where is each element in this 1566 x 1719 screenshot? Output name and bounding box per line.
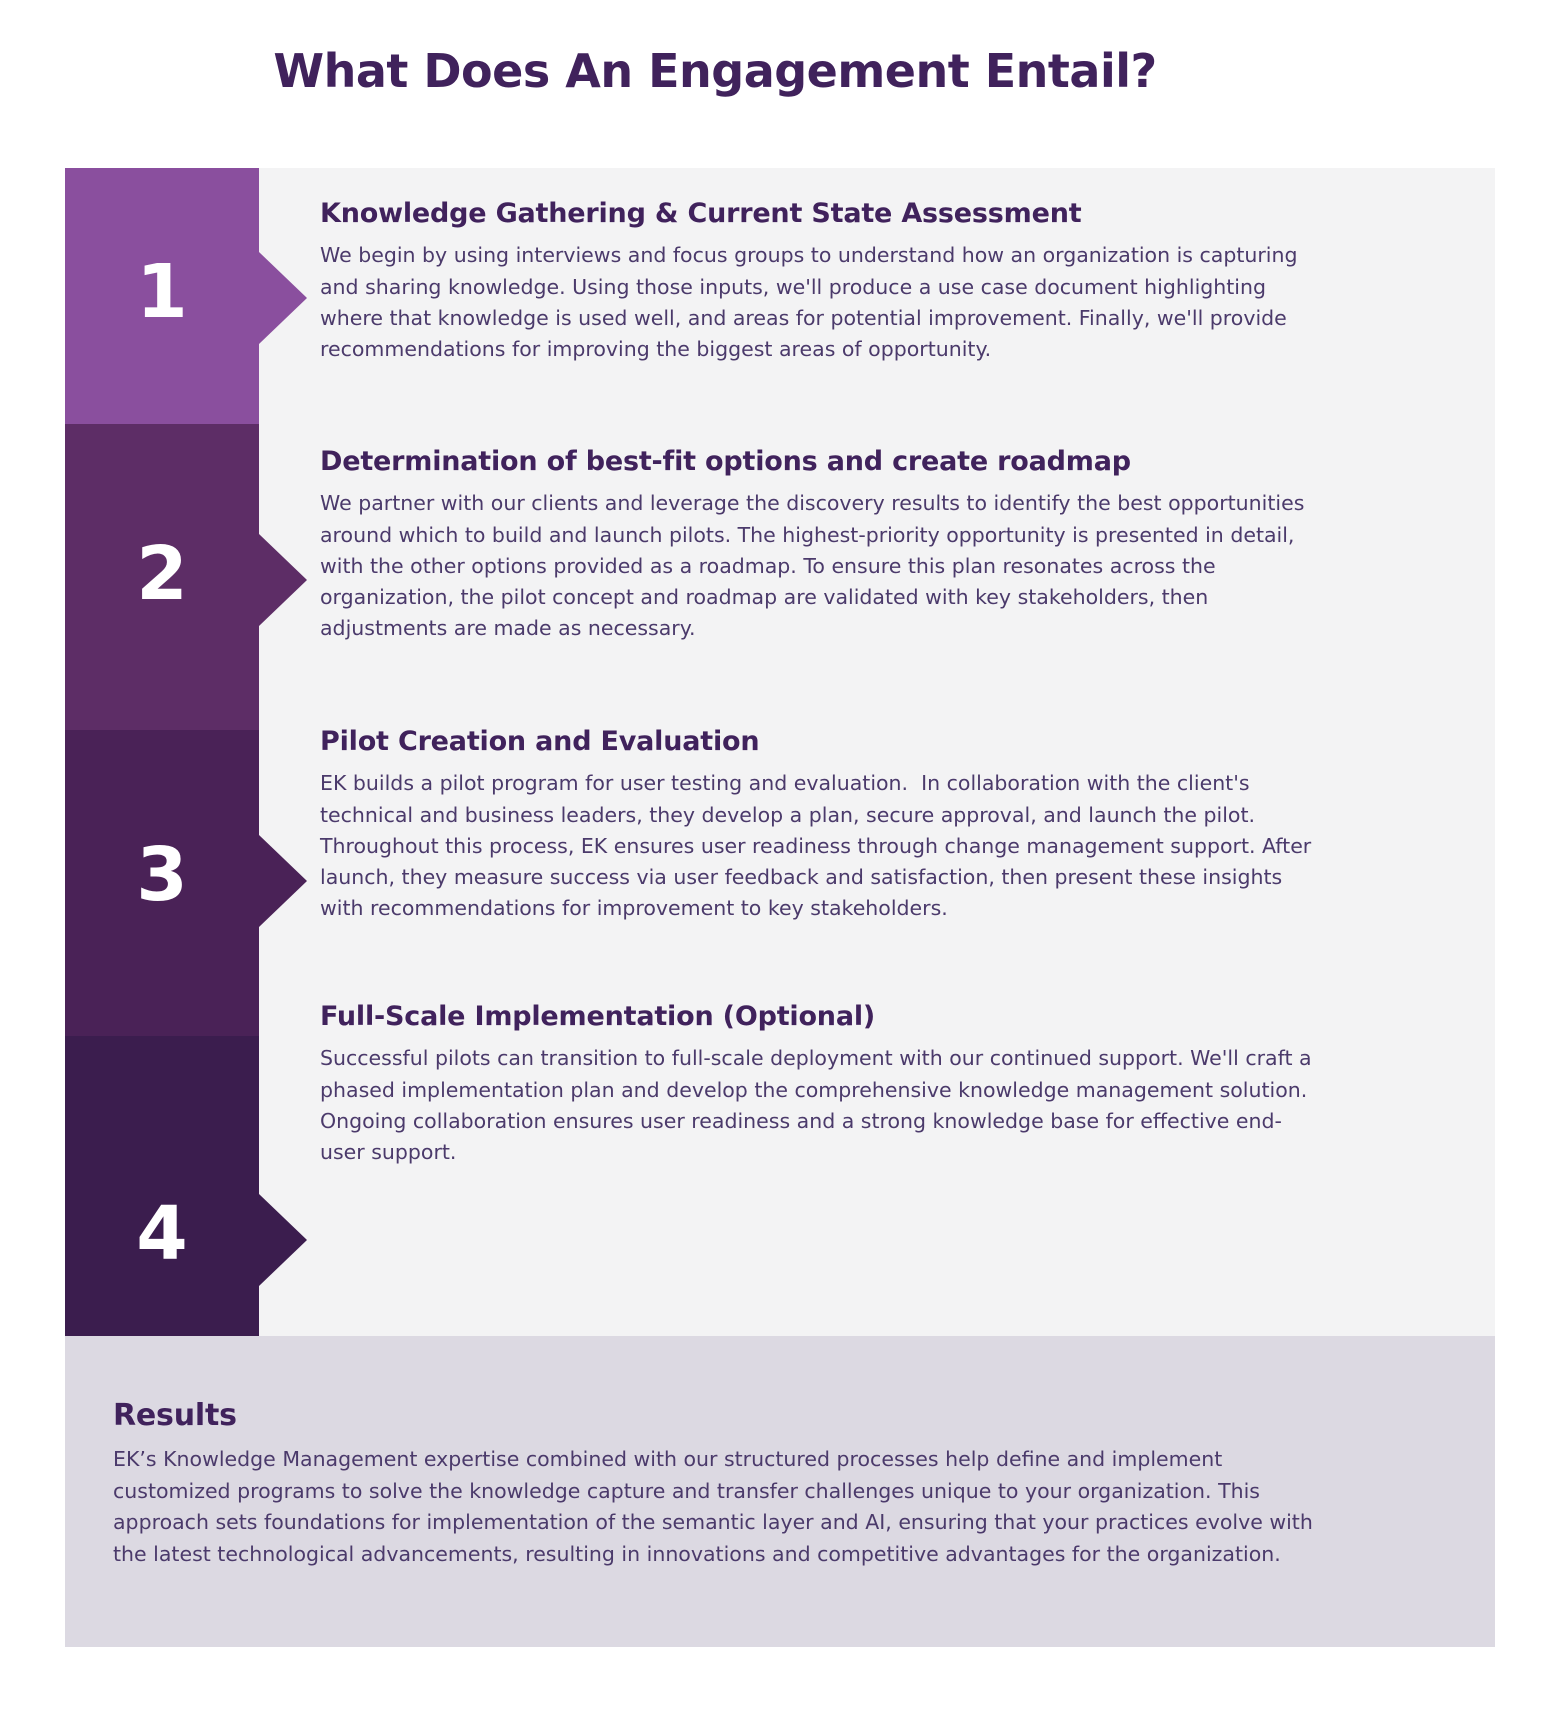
step-content-3: Pilot Creation and Evaluation EK builds … — [320, 726, 1320, 924]
step-arrow-3 — [259, 835, 307, 927]
step-number-1: 1 — [65, 255, 259, 329]
step-block-4: 4 — [65, 1036, 259, 1336]
step-block-1: 1 — [65, 168, 259, 424]
step-body-3: EK builds a pilot program for user testi… — [320, 768, 1320, 924]
step-number-3: 3 — [65, 838, 259, 912]
page-title: What Does An Engagement Entail? — [0, 44, 1430, 98]
results-body: EK’s Knowledge Management expertise comb… — [113, 1444, 1323, 1570]
step-arrow-2 — [259, 534, 307, 626]
step-heading-3: Pilot Creation and Evaluation — [320, 726, 1320, 758]
results-panel: Results EK’s Knowledge Management expert… — [65, 1336, 1495, 1647]
step-content-2: Determination of best-fit options and cr… — [320, 446, 1320, 644]
step-block-3: 3 — [65, 730, 259, 1036]
step-heading-1: Knowledge Gathering & Current State Asse… — [320, 198, 1320, 230]
results-heading: Results — [113, 1398, 237, 1433]
step-content-4: Full-Scale Implementation (Optional) Suc… — [320, 1001, 1320, 1168]
step-block-2: 2 — [65, 424, 259, 730]
step-body-4: Successful pilots can transition to full… — [320, 1043, 1320, 1168]
steps-panel: 1 2 3 4 Knowledge Gathering & Current St… — [65, 168, 1495, 1336]
step-arrow-4 — [259, 1194, 307, 1286]
step-content-1: Knowledge Gathering & Current State Asse… — [320, 198, 1320, 365]
step-body-2: We partner with our clients and leverage… — [320, 488, 1320, 644]
step-heading-2: Determination of best-fit options and cr… — [320, 446, 1320, 478]
step-heading-4: Full-Scale Implementation (Optional) — [320, 1001, 1320, 1033]
step-bar-4 — [65, 1036, 259, 1336]
step-body-1: We begin by using interviews and focus g… — [320, 240, 1320, 365]
step-arrow-1 — [259, 252, 307, 344]
step-number-2: 2 — [65, 537, 259, 611]
step-number-4: 4 — [65, 1197, 259, 1271]
